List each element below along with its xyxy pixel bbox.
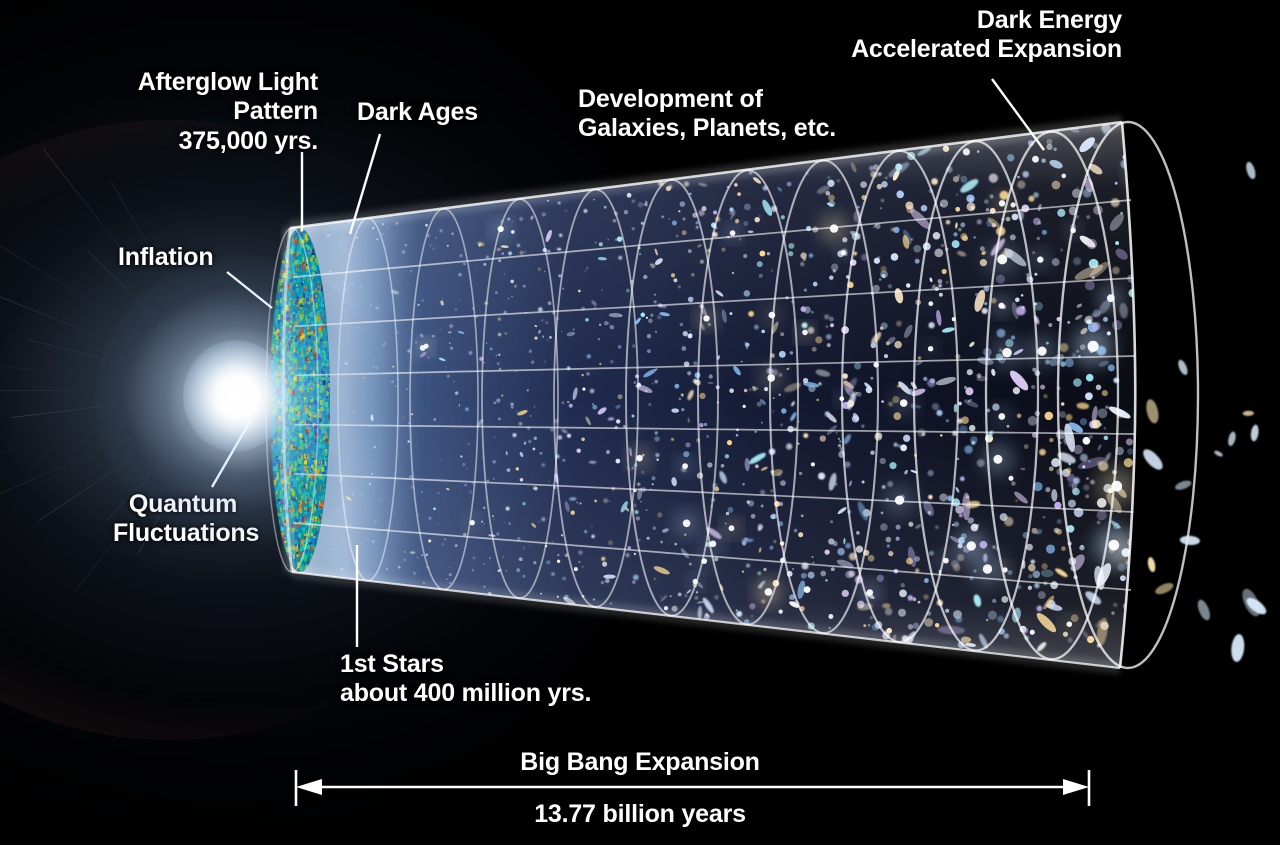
expansion-duration-arrow: [0, 740, 1280, 810]
label-dark-ages: Dark Ages: [357, 98, 478, 127]
label-inflation: Inflation: [118, 243, 213, 272]
label-dark-energy: Dark Energy Accelerated Expansion: [822, 6, 1122, 65]
label-first-stars: 1st Stars about 400 million yrs.: [340, 650, 591, 709]
arrow-head-left: [296, 779, 322, 795]
universe-timeline-figure: Afterglow Light Pattern 375,000 yrs. Inf…: [0, 0, 1280, 845]
leader-inflation: [227, 272, 272, 308]
label-development-of-galaxies: Development of Galaxies, Planets, etc.: [578, 85, 836, 144]
label-quantum-fluctuations: Quantum Fluctuations: [113, 490, 253, 549]
label-afterglow-light-pattern: Afterglow Light Pattern 375,000 yrs.: [138, 68, 318, 156]
leader-quantum: [212, 418, 252, 487]
arrow-head-right: [1063, 779, 1089, 795]
outer-galaxies: [1140, 161, 1269, 663]
